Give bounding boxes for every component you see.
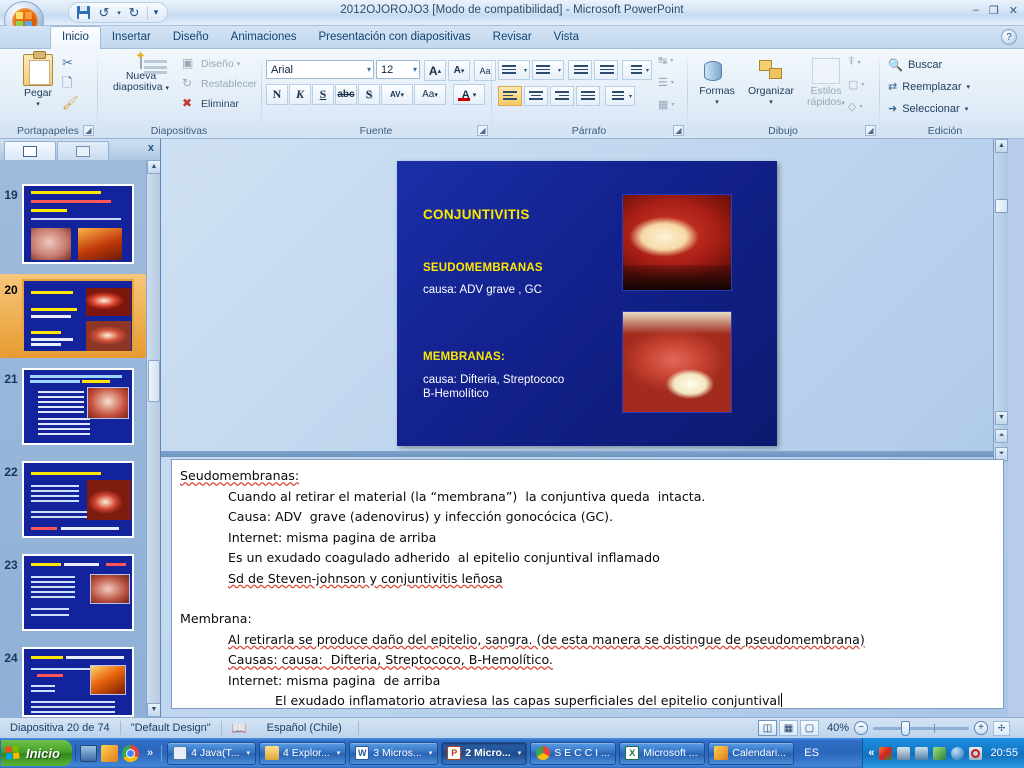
- notes-line: Internet: misma pagina de arriba: [180, 671, 995, 692]
- align-right-button[interactable]: [550, 86, 574, 106]
- notes-line: Sd de Steven-johnson y conjuntivitis leñ…: [180, 569, 995, 590]
- group-slides: ✦ Nueva diapositiva ▾ ▣ Diseño ▾ ↻ Resta…: [98, 50, 260, 138]
- quick-launch-overflow-icon[interactable]: »: [143, 747, 157, 759]
- scroll-up-button[interactable]: ▲: [995, 139, 1008, 153]
- bold-button[interactable]: N: [266, 84, 288, 105]
- replace-icon: ⇄: [888, 80, 897, 93]
- copy-button[interactable]: 🗋: [62, 76, 78, 92]
- group-drawing: Formas ▾ Organizar ▾ Estilos rápidos▾ ⍒▾: [688, 50, 878, 138]
- show-desktop-icon[interactable]: [80, 745, 97, 762]
- group-label-slides: Diapositivas: [98, 125, 260, 137]
- taskbar-item-powerpoint[interactable]: P 2 Micro... ▾: [441, 742, 527, 765]
- close-button[interactable]: ✕: [1009, 4, 1018, 17]
- fit-window-button[interactable]: ✢: [993, 721, 1010, 736]
- group-label-font: Fuente: [262, 125, 490, 137]
- zoom-out-button[interactable]: −: [854, 721, 868, 735]
- align-right-icon: [555, 91, 569, 102]
- paragraph-dialog-launcher[interactable]: ◢: [673, 125, 684, 136]
- scrollbar-thumb[interactable]: [995, 199, 1008, 213]
- slide-thumbnail[interactable]: [22, 368, 134, 445]
- word-icon: W: [355, 746, 369, 760]
- window-title: 2012OJOROJO3 [Modo de compatibilidad] - …: [0, 4, 1024, 16]
- justify-icon: [581, 91, 595, 102]
- normal-view-button[interactable]: ◫: [758, 720, 777, 736]
- taskbar-item-word[interactable]: W 3 Micros... ▾: [349, 742, 438, 765]
- font-color-swatch: [458, 98, 470, 101]
- star-icon: ✦: [135, 51, 146, 61]
- font-size-value: 12: [381, 64, 393, 76]
- text-shadow-button[interactable]: S: [358, 84, 380, 105]
- outline-icon: ▢: [848, 78, 858, 91]
- quick-launch-bar: »: [75, 745, 162, 762]
- binoculars-icon: 🔍: [888, 58, 903, 72]
- slide-sorter-button[interactable]: ▦: [779, 720, 798, 736]
- strikethrough-button[interactable]: abc: [335, 84, 357, 105]
- slide-thumbnail[interactable]: [22, 184, 134, 264]
- slide-counter: Diapositiva 20 de 74: [0, 722, 120, 734]
- previous-slide-button[interactable]: ⏶: [995, 429, 1008, 443]
- arrange-icon: [757, 58, 785, 84]
- outline-tab[interactable]: [57, 141, 109, 160]
- group-paragraph: ▾ ▾ ▾ ↹▾: [492, 50, 686, 138]
- layout-button[interactable]: ▣ Diseño ▾: [182, 56, 240, 72]
- copy-icon: 🗋: [62, 76, 78, 92]
- msn-icon[interactable]: [879, 747, 892, 760]
- tray-expand-icon[interactable]: «: [868, 747, 874, 759]
- ribbon: Pegar ▾ ✂ 🗋 🖌 Portapapeles ◢: [0, 49, 1024, 139]
- slide-heading-seudomembranas[interactable]: SEUDOMEMBRANAS: [423, 262, 543, 274]
- character-spacing-button[interactable]: AV▾: [381, 84, 413, 105]
- slides-panel: x 19 20: [0, 139, 160, 717]
- slide-sorter-icon: ▦: [784, 723, 793, 734]
- justify-button[interactable]: [576, 86, 600, 106]
- arrange-button[interactable]: Organizar ▾: [742, 58, 800, 108]
- quick-styles-icon: [812, 58, 840, 84]
- slide-number: 21: [0, 368, 22, 445]
- zoom-slider-handle[interactable]: [901, 721, 910, 736]
- notes-text[interactable]: Seudomembranas: Cuando al retirar el mat…: [172, 460, 1003, 709]
- chrome-icon[interactable]: [122, 745, 139, 762]
- clock[interactable]: 20:55: [990, 747, 1018, 759]
- taskbar-item-excel[interactable]: X Microsoft ...: [619, 742, 705, 765]
- underline-button[interactable]: S: [312, 84, 334, 105]
- taskbar-item-explorer[interactable]: 4 Explor... ▾: [259, 742, 346, 765]
- scrollbar-thumb[interactable]: [148, 360, 160, 402]
- notes-line: Cuando al retirar el material (la “membr…: [180, 487, 995, 508]
- align-left-icon: [503, 91, 517, 102]
- align-left-button[interactable]: [498, 86, 522, 106]
- chevron-down-icon[interactable]: ▾: [515, 749, 522, 757]
- status-divider: [358, 721, 359, 735]
- align-text-button[interactable]: ☰▾: [658, 76, 674, 89]
- grow-font-button[interactable]: A▴: [424, 60, 446, 81]
- tab-revisar[interactable]: Revisar: [482, 26, 543, 49]
- slide-number: 19: [0, 184, 22, 264]
- paste-icon: [23, 54, 53, 86]
- excel-icon: X: [625, 746, 639, 760]
- paste-button[interactable]: Pegar ▾: [12, 54, 64, 110]
- slide-thumbnail[interactable]: [22, 647, 134, 717]
- align-center-icon: [529, 91, 543, 102]
- title-bar: ↺ ▾ ↻ ▾ 2012OJOROJO3 [Modo de compatibil…: [0, 0, 1024, 26]
- notes-line: Es un exudado coagulado adherido al epit…: [180, 548, 995, 569]
- slide-number: 20: [0, 279, 22, 353]
- tab-inicio[interactable]: Inicio: [50, 26, 101, 49]
- language-indicator[interactable]: Español (Chile): [257, 722, 352, 734]
- zoom-controls: 40% − + ✢: [827, 721, 1018, 736]
- slideshow-icon: ▢: [805, 723, 814, 734]
- reset-icon: ↻: [182, 76, 198, 92]
- slides-panel-scrollbar[interactable]: ▲ ▼: [146, 160, 160, 717]
- decrease-indent-icon: [574, 65, 588, 76]
- format-painter-button[interactable]: 🖌: [62, 96, 78, 112]
- chevron-down-icon[interactable]: ▾: [409, 65, 417, 74]
- columns-icon: [612, 91, 624, 102]
- numbered-list-icon: [536, 65, 550, 76]
- network-icon[interactable]: [915, 747, 928, 760]
- network-globe-icon[interactable]: [951, 747, 964, 760]
- increase-indent-button[interactable]: [594, 60, 618, 80]
- help-icon[interactable]: ?: [1001, 29, 1017, 45]
- zoom-level: 40%: [827, 722, 849, 734]
- brush-icon: 🖌: [62, 96, 78, 112]
- slide-thumbnail[interactable]: [22, 279, 134, 353]
- zoom-slider[interactable]: [873, 727, 969, 730]
- cut-button[interactable]: ✂: [62, 56, 78, 72]
- slide-text-seudomembranas[interactable]: causa: ADV grave , GC: [423, 283, 542, 297]
- notes-line: Internet: misma pagina de arriba: [180, 528, 995, 549]
- folder-icon: [265, 746, 279, 760]
- taskbar-buttons: 4 Java(T... ▾ 4 Explor... ▾ W 3 Micros..…: [162, 742, 794, 765]
- shrink-font-button[interactable]: A▾: [448, 60, 470, 81]
- shapes-icon: [702, 58, 732, 84]
- slide-canvas[interactable]: CONJUNTIVITIS SEUDOMEMBRANAS causa: ADV …: [397, 161, 777, 446]
- status-bar: Diapositiva 20 de 74 "Default Design" 📖 …: [0, 717, 1024, 738]
- fill-icon: ⍒: [848, 56, 855, 69]
- zoom-in-button[interactable]: +: [974, 721, 988, 735]
- font-name-value: Arial: [271, 64, 293, 76]
- chevron-down-icon[interactable]: ▾: [363, 65, 371, 74]
- list-item[interactable]: 20: [0, 279, 146, 353]
- change-case-button[interactable]: Aa▾: [414, 84, 446, 105]
- text-caret: [781, 693, 782, 707]
- window-controls: – ❐ ✕: [973, 4, 1018, 17]
- slide-number: 24: [0, 647, 22, 717]
- align-text-icon: ☰: [658, 76, 668, 89]
- media-player-icon: [714, 746, 728, 760]
- zoom-slider-tick: [934, 724, 935, 733]
- notes-line: El exudado inflamatorio atraviesa las ca…: [180, 691, 995, 709]
- numbering-button[interactable]: ▾: [532, 60, 564, 80]
- tab-animaciones[interactable]: Animaciones: [220, 26, 308, 49]
- new-slide-dropdown-icon[interactable]: ▾: [166, 85, 170, 92]
- system-tray: « 20:55: [862, 738, 1024, 768]
- scroll-down-button[interactable]: ▼: [147, 703, 161, 717]
- select-button[interactable]: ➜ Seleccionar ▾: [888, 102, 968, 115]
- volume-muted-icon[interactable]: [969, 747, 982, 760]
- notes-line: Seudomembranas:: [180, 466, 995, 487]
- restore-button[interactable]: ❐: [989, 4, 999, 17]
- line-spacing-icon: [631, 65, 642, 76]
- text-direction-button[interactable]: ↹▾: [658, 54, 673, 67]
- minimize-button[interactable]: –: [973, 4, 979, 17]
- bullet-list-icon: [502, 65, 516, 76]
- shapes-button[interactable]: Formas ▾: [694, 58, 740, 108]
- start-button[interactable]: Inicio: [1, 740, 72, 766]
- align-center-button[interactable]: [524, 86, 548, 106]
- shape-fill-button[interactable]: ⍒▾: [848, 56, 861, 69]
- taskbar-item-calendario[interactable]: Calendari...: [708, 742, 794, 765]
- layout-icon: ▣: [182, 56, 198, 72]
- slide-title[interactable]: CONJUNTIVITIS: [423, 207, 530, 222]
- scissors-icon: ✂: [62, 56, 78, 72]
- conjunctiva-pseudomembrane-photo[interactable]: [622, 194, 732, 291]
- chevron-down-icon[interactable]: ▾: [334, 749, 341, 757]
- font-dialog-launcher[interactable]: ◢: [477, 125, 488, 136]
- normal-view-icon: ◫: [763, 723, 772, 734]
- delete-slide-button[interactable]: ✖ Eliminar: [182, 96, 239, 112]
- group-label-drawing: Dibujo: [688, 125, 878, 137]
- powerpoint-window: ↺ ▾ ↻ ▾ 2012OJOROJO3 [Modo de compatibil…: [0, 0, 1024, 768]
- tab-insertar[interactable]: Insertar: [101, 26, 162, 49]
- drawing-dialog-launcher[interactable]: ◢: [865, 125, 876, 136]
- language-bar[interactable]: ES: [794, 747, 829, 759]
- slide-area-scrollbar[interactable]: ▲ ▼ ⏶ ⏷: [993, 139, 1008, 469]
- smartart-icon: ▦: [658, 98, 668, 111]
- windows-flag-icon: [5, 745, 21, 761]
- shape-outline-button[interactable]: ▢▾: [848, 78, 864, 91]
- conjunctiva-membrane-photo[interactable]: [622, 311, 732, 413]
- group-label-editing: Edición: [880, 125, 1010, 137]
- new-slide-button[interactable]: ✦ Nueva diapositiva ▾: [104, 56, 178, 94]
- java-icon: [173, 746, 187, 760]
- notes-line: Membrana:: [180, 609, 995, 630]
- scroll-down-button[interactable]: ▼: [995, 411, 1008, 425]
- list-item[interactable]: 21: [0, 368, 146, 445]
- slides-panel-tabs: x: [0, 139, 160, 160]
- editing-area: CONJUNTIVITIS SEUDOMEMBRANAS causa: ADV …: [160, 139, 1008, 717]
- slide-text-membranas[interactable]: causa: Difteria, Streptococo B-Hemolític…: [423, 373, 564, 401]
- font-size-combo[interactable]: 12 ▾: [376, 60, 420, 79]
- font-color-button[interactable]: A ▾: [453, 84, 485, 105]
- ribbon-tabs: Inicio Insertar Diseño Animaciones Prese…: [0, 26, 1024, 49]
- monitor-icon[interactable]: [897, 747, 910, 760]
- notes-line: Al retirarla se produce daño del epiteli…: [180, 630, 995, 651]
- slides-tab-icon: [23, 146, 37, 157]
- italic-button[interactable]: K: [289, 84, 311, 105]
- smartart-button[interactable]: ▦▾: [658, 98, 674, 111]
- delete-icon: ✖: [182, 96, 198, 112]
- group-editing: 🔍 Buscar ⇄ Reemplazar ▾ ➜ Seleccionar ▾ …: [880, 50, 1010, 138]
- quick-styles-button[interactable]: Estilos rápidos▾: [802, 58, 850, 109]
- tab-diseno[interactable]: Diseño: [162, 26, 220, 49]
- increase-indent-icon: [600, 65, 614, 76]
- slide-number: 23: [0, 554, 22, 631]
- list-item[interactable]: 24: [0, 647, 146, 717]
- spellcheck-icon[interactable]: 📖: [222, 721, 257, 735]
- find-button[interactable]: 🔍 Buscar: [888, 58, 942, 72]
- taskbar-item-java[interactable]: 4 Java(T... ▾: [167, 742, 256, 765]
- tab-presentacion[interactable]: Presentación con diapositivas: [308, 26, 482, 49]
- antivirus-icon[interactable]: [933, 747, 946, 760]
- bullets-button[interactable]: ▾: [498, 60, 530, 80]
- shape-effects-button[interactable]: ◇▾: [848, 100, 862, 113]
- list-item[interactable]: 22: [0, 461, 146, 538]
- notes-line: Causas: causa: Difteria, Streptococo, B-…: [180, 650, 995, 671]
- cursor-icon: ➜: [888, 102, 897, 115]
- replace-button[interactable]: ⇄ Reemplazar ▾: [888, 80, 970, 93]
- group-clipboard: Pegar ▾ ✂ 🗋 🖌 Portapapeles ◢: [0, 50, 96, 138]
- text-direction-icon: ↹: [658, 54, 667, 67]
- media-player-icon[interactable]: [101, 745, 118, 762]
- list-item[interactable]: 19: [0, 184, 146, 264]
- taskbar-item-chrome-secci[interactable]: S E C C I ...: [530, 742, 616, 765]
- notes-splitter[interactable]: [161, 451, 994, 457]
- slide-thumbnail[interactable]: [22, 554, 134, 631]
- chrome-icon: [536, 746, 550, 760]
- columns-button[interactable]: ▾: [605, 86, 635, 106]
- slide-heading-membranas[interactable]: MEMBRANAS:: [423, 351, 505, 363]
- notes-line: Causa: ADV grave (adenovirus) y infecció…: [180, 507, 995, 528]
- decrease-indent-button[interactable]: [568, 60, 592, 80]
- reset-button[interactable]: ↻ Restablecer: [182, 76, 257, 92]
- effects-icon: ◇: [848, 100, 856, 113]
- group-label-clipboard: Portapapeles: [0, 125, 96, 137]
- notes-line: [180, 589, 995, 609]
- slide-thumbnail-list[interactable]: 19 20: [0, 160, 146, 717]
- slideshow-button[interactable]: ▢: [800, 720, 819, 736]
- group-label-paragraph: Párrafo: [492, 125, 686, 137]
- group-font: Arial ▾ 12 ▾ A▴ A▾ Aa N: [262, 50, 490, 138]
- slide-thumbnail[interactable]: [22, 461, 134, 538]
- view-controls: ◫ ▦ ▢ 40% − + ✢: [758, 720, 1024, 736]
- theme-name[interactable]: "Default Design": [121, 722, 221, 734]
- slides-tab[interactable]: [4, 141, 56, 160]
- outline-tab-icon: [76, 146, 90, 157]
- notes-pane[interactable]: Seudomembranas: Cuando al retirar el mat…: [171, 459, 1004, 709]
- taskbar: Inicio » 4 Java(T... ▾ 4 Explor... ▾ W: [0, 738, 1024, 768]
- chevron-down-icon[interactable]: ▾: [244, 749, 251, 757]
- list-item[interactable]: 23: [0, 554, 146, 631]
- clipboard-dialog-launcher[interactable]: ◢: [83, 125, 94, 136]
- fit-window-icon: ✢: [998, 723, 1006, 733]
- font-name-combo[interactable]: Arial ▾: [266, 60, 374, 79]
- close-panel-icon[interactable]: x: [148, 142, 154, 154]
- line-spacing-button[interactable]: ▾: [622, 60, 652, 80]
- scroll-up-button[interactable]: ▲: [147, 160, 161, 174]
- powerpoint-icon: P: [447, 746, 461, 760]
- chevron-down-icon[interactable]: ▾: [426, 749, 433, 757]
- tab-vista[interactable]: Vista: [543, 26, 590, 49]
- slide-number: 22: [0, 461, 22, 538]
